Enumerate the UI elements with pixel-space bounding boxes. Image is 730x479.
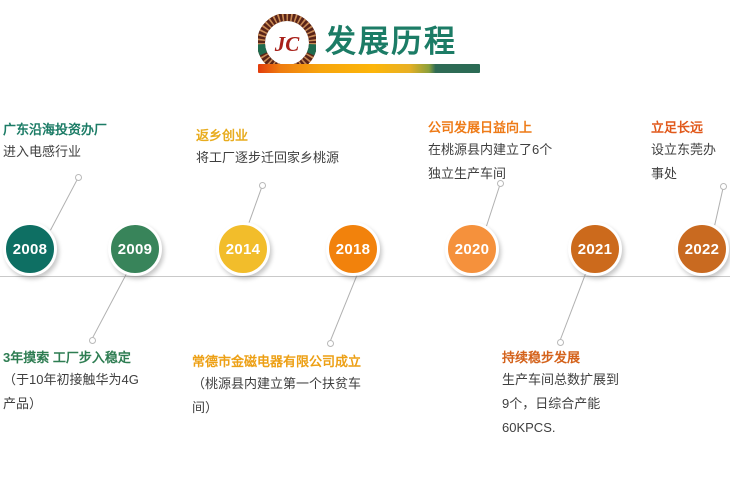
- event-body-2022: 设立东莞办事处: [651, 138, 716, 186]
- event-body-line: 独立生产车间: [428, 162, 552, 186]
- logo-letters: JC: [274, 32, 301, 56]
- event-label-2020: 公司发展日益向上在桃源县内建立了6个独立生产车间: [428, 118, 552, 186]
- connector-endpoint-2018: [327, 340, 334, 347]
- event-label-2018: 常德市金磁电器有限公司成立（桃源县内建立第一个扶贫车间）: [192, 352, 361, 420]
- connector-line-2018: [329, 274, 358, 343]
- connector-line-2009: [91, 272, 128, 340]
- page-title: 发展历程: [325, 22, 457, 62]
- timeline-node-year-label: 2021: [578, 241, 613, 258]
- event-body-2014: 将工厂逐步迁回家乡桃源: [196, 146, 339, 170]
- timeline-node-year-label: 2020: [455, 241, 490, 258]
- timeline-node-year-label: 2022: [685, 241, 720, 258]
- event-label-2022: 立足长远设立东莞办事处: [651, 118, 716, 186]
- event-body-line: 进入电感行业: [3, 140, 107, 164]
- event-label-2009: 3年摸索 工厂步入稳定（于10年初接触华为4G产品）: [3, 348, 139, 416]
- timeline-node-year-label: 2009: [118, 241, 153, 258]
- timeline-node-year-label: 2018: [336, 241, 371, 258]
- event-body-2020: 在桃源县内建立了6个独立生产车间: [428, 138, 552, 186]
- event-heading-2021: 持续稳步发展: [502, 348, 619, 368]
- timeline-node-year-label: 2014: [226, 241, 261, 258]
- event-heading-2014: 返乡创业: [196, 126, 339, 146]
- timeline-node-2022[interactable]: 2022: [675, 222, 729, 276]
- connector-line-2021: [559, 274, 586, 342]
- connector-line-2008: [50, 177, 79, 230]
- event-heading-2009: 3年摸索 工厂步入稳定: [3, 348, 139, 368]
- event-label-2008: 广东沿海投资办厂进入电感行业: [3, 120, 107, 164]
- timeline-node-2018[interactable]: 2018: [326, 222, 380, 276]
- event-body-line: 将工厂逐步迁回家乡桃源: [196, 146, 339, 170]
- timeline-node-year-label: 2008: [13, 241, 48, 258]
- event-body-line: 产品）: [3, 392, 139, 416]
- connector-endpoint-2022: [720, 183, 727, 190]
- timeline-node-2021[interactable]: 2021: [568, 222, 622, 276]
- event-body-2009: （于10年初接触华为4G产品）: [3, 368, 139, 416]
- event-body-line: 间）: [192, 396, 361, 420]
- event-heading-2022: 立足长远: [651, 118, 716, 138]
- connector-line-2014: [248, 185, 263, 224]
- event-body-line: （桃源县内建立第一个扶贫车: [192, 372, 361, 396]
- event-body-line: 设立东莞办: [651, 138, 716, 162]
- timeline-node-2020[interactable]: 2020: [445, 222, 499, 276]
- connector-endpoint-2008: [75, 174, 82, 181]
- connector-line-2020: [486, 183, 501, 226]
- event-heading-2018: 常德市金磁电器有限公司成立: [192, 352, 361, 372]
- event-heading-2020: 公司发展日益向上: [428, 118, 552, 138]
- connector-endpoint-2021: [557, 339, 564, 346]
- event-body-line: 生产车间总数扩展到: [502, 368, 619, 392]
- connector-line-2022: [714, 186, 724, 226]
- event-body-line: 60KPCS.: [502, 416, 619, 440]
- event-body-2018: （桃源县内建立第一个扶贫车间）: [192, 372, 361, 420]
- timeline-node-2009[interactable]: 2009: [108, 222, 162, 276]
- event-body-2008: 进入电感行业: [3, 140, 107, 164]
- event-label-2014: 返乡创业将工厂逐步迁回家乡桃源: [196, 126, 339, 170]
- event-body-line: 事处: [651, 162, 716, 186]
- event-body-line: 在桃源县内建立了6个: [428, 138, 552, 162]
- connector-endpoint-2014: [259, 182, 266, 189]
- timeline-node-2014[interactable]: 2014: [216, 222, 270, 276]
- event-body-line: （于10年初接触华为4G: [3, 368, 139, 392]
- event-label-2021: 持续稳步发展生产车间总数扩展到9个，日综合产能60KPCS.: [502, 348, 619, 440]
- timeline-axis: [0, 276, 730, 277]
- timeline-node-2008[interactable]: 2008: [3, 222, 57, 276]
- connector-endpoint-2009: [89, 337, 96, 344]
- event-body-2021: 生产车间总数扩展到9个，日综合产能60KPCS.: [502, 368, 619, 440]
- title-underline-bar: [258, 64, 480, 73]
- header: JC 发展历程: [0, 0, 730, 92]
- event-body-line: 9个，日综合产能: [502, 392, 619, 416]
- event-heading-2008: 广东沿海投资办厂: [3, 120, 107, 140]
